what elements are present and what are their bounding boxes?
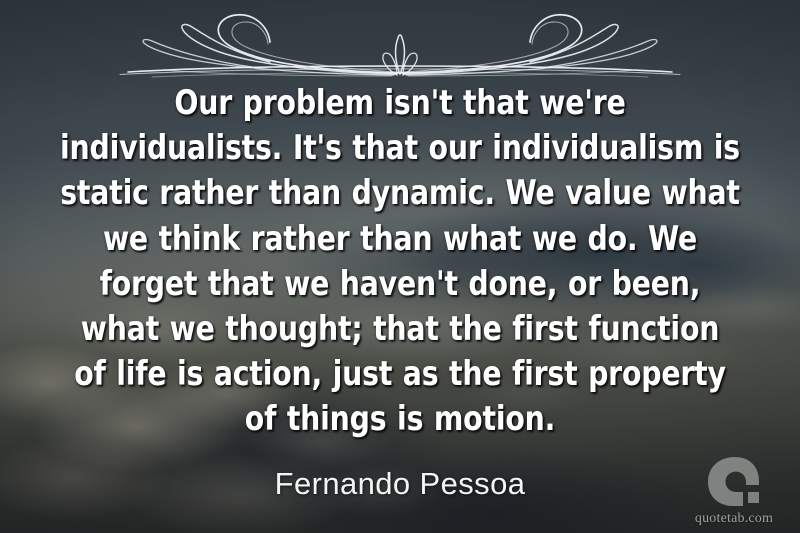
quote-text: Our problem isn't that we're individuali… (50, 80, 749, 442)
quote-line: what we thought; that the first function (50, 306, 749, 351)
quote-line: static rather than dynamic. We value wha… (50, 170, 749, 215)
quote-line: individualists. It's that our individual… (50, 125, 749, 170)
quote-line: we think rather than what we do. We (50, 216, 749, 261)
quote-line: forget that we haven't done, or been, (50, 261, 749, 306)
quote-line: of life is action, just as the first pro… (50, 351, 749, 396)
quote-line: Our problem isn't that we're (50, 80, 749, 125)
watermark-site-label: quotetab.com (678, 511, 790, 527)
site-watermark[interactable]: quotetab.com (678, 455, 790, 527)
quote-line: of things is motion. (50, 396, 749, 441)
quotetab-q-logo-icon (705, 455, 763, 509)
flourish-ornament-icon (110, 4, 690, 84)
quote-image-card: Our problem isn't that we're individuali… (0, 0, 800, 533)
